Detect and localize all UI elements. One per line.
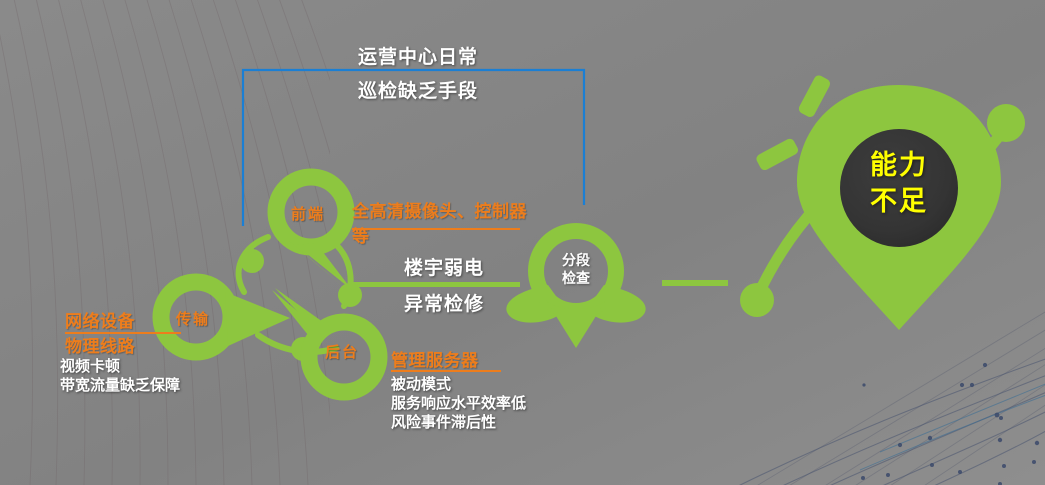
callout-transport-rule — [65, 332, 181, 334]
pin-front-shape — [276, 177, 352, 290]
center-line1: 楼宇弱电 — [404, 253, 484, 280]
header-line1: 运营中心日常 — [358, 42, 478, 69]
pin-label-transport: 传输 — [176, 308, 210, 329]
center-rule — [352, 282, 520, 287]
connector-line — [662, 280, 728, 286]
pin-backend-shape — [272, 288, 379, 392]
pin-segment-shape — [506, 231, 645, 348]
callout-front-heading: 全高清摄像头、控制器 等 — [352, 200, 527, 250]
callout-backend-rule — [391, 370, 501, 372]
callout-front-rule — [352, 228, 520, 230]
callout-transport-body: 视频卡顿 带宽流量缺乏保障 — [60, 357, 180, 395]
pin-label-front: 前端 — [291, 203, 325, 224]
pin-label-segment: 分段 检查 — [546, 252, 606, 288]
callout-transport-heading: 网络设备 物理线路 — [65, 310, 135, 360]
center-line2: 异常检修 — [404, 289, 484, 316]
capability-label: 能力 不足 — [839, 148, 959, 220]
callout-backend-body: 被动模式 服务响应水平效率低 风险事件滞后性 — [391, 375, 526, 432]
callout-backend-heading: 管理服务器 — [391, 346, 479, 371]
pin-label-backend: 后台 — [325, 341, 359, 362]
header-line2: 巡检缺乏手段 — [358, 76, 478, 103]
diagram-canvas: 运营中心日常 巡检缺乏手段 前端 传输 后台 分段 检查 能力 不足 全高清摄像… — [0, 0, 1045, 485]
